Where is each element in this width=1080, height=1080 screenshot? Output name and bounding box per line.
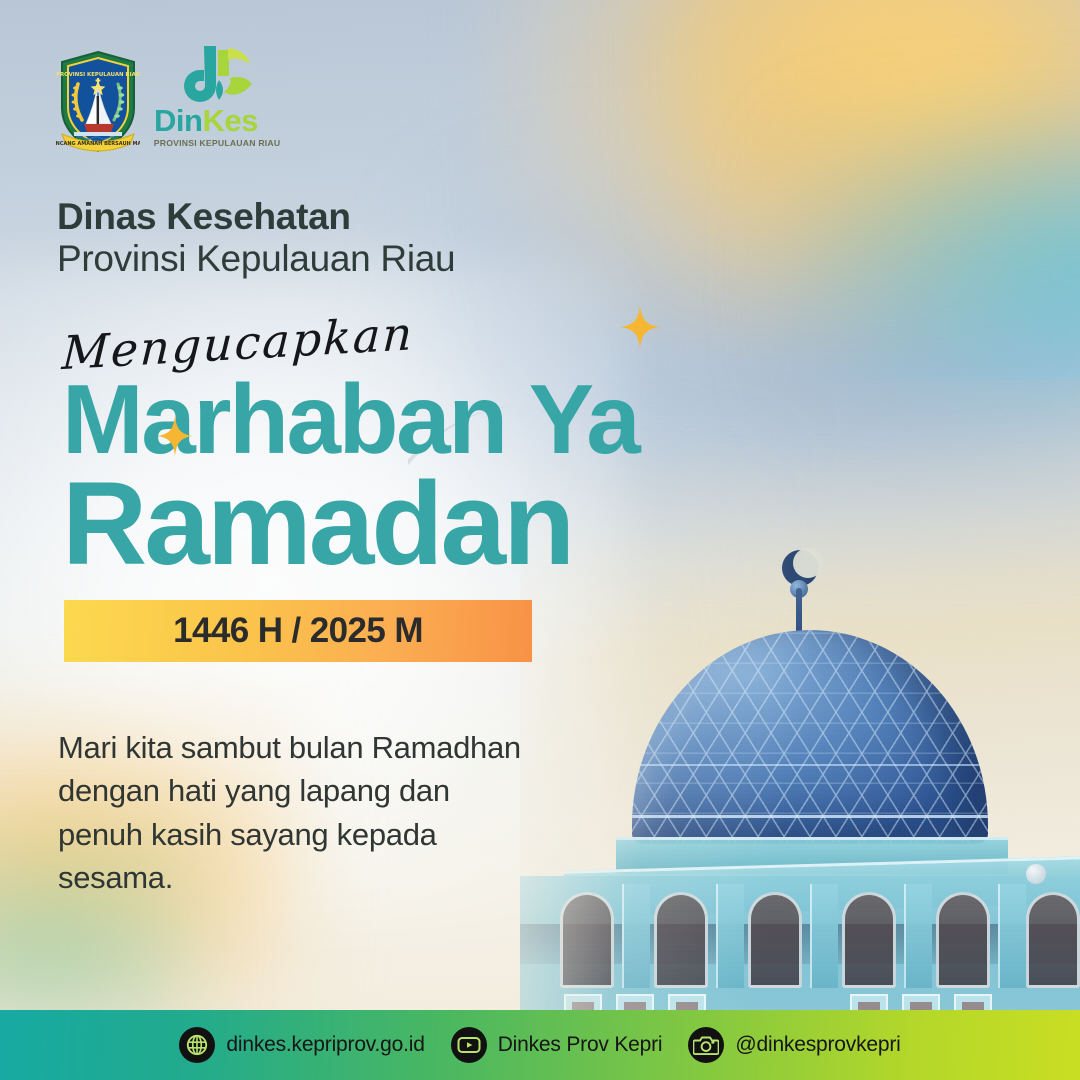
sparkle-icon [158, 416, 192, 456]
footer-bar: dinkes.kepriprov.go.id Dinkes Prov Kepri… [0, 1010, 1080, 1080]
kepri-province-emblem-icon: PROVINSI KEPULAUAN RIAU [56, 50, 140, 154]
dinkes-logo: DinKes PROVINSI KEPULAUAN RIAU [154, 44, 258, 154]
org-line-2: Provinsi Kepulauan Riau [57, 238, 455, 280]
dinkes-word-kes: Kes [202, 103, 257, 138]
youtube-icon [451, 1027, 487, 1063]
footer-instagram-label: @dinkesprovkepri [735, 1033, 900, 1057]
org-line-1: Dinas Kesehatan [57, 196, 455, 238]
date-badge-label: 1446 H / 2025 M [173, 611, 423, 651]
globe-icon [179, 1027, 215, 1063]
body-message: Mari kita sambut bulan Ramadhan dengan h… [58, 726, 528, 900]
footer-instagram[interactable]: @dinkesprovkepri [688, 1027, 900, 1063]
organization-title: Dinas Kesehatan Provinsi Kepulauan Riau [57, 196, 455, 280]
svg-text:PROVINSI KEPULAUAN RIAU: PROVINSI KEPULAUAN RIAU [56, 72, 140, 78]
dinkes-word-din: Din [154, 103, 202, 138]
footer-website[interactable]: dinkes.kepriprov.go.id [179, 1027, 424, 1063]
svg-text:BERPANCANG AMANAH BERSAUH MARW: BERPANCANG AMANAH BERSAUH MARWAH [56, 141, 140, 147]
footer-youtube[interactable]: Dinkes Prov Kepri [451, 1027, 663, 1063]
headline: Marhaban Ya Ramadan [62, 372, 638, 581]
date-badge: 1446 H / 2025 M [64, 600, 532, 662]
ramadan-greeting-poster: PROVINSI KEPULAUAN RIAU [0, 0, 1080, 1080]
logo-group: PROVINSI KEPULAUAN RIAU [56, 44, 258, 154]
dinkes-subtitle: PROVINSI KEPULAUAN RIAU [154, 138, 281, 148]
dinkes-wordmark: DinKes [154, 105, 258, 136]
sparkle-icon [620, 306, 660, 348]
instagram-icon [688, 1027, 724, 1063]
headline-line-2: Ramadan [62, 468, 638, 581]
footer-website-label: dinkes.kepriprov.go.id [226, 1033, 424, 1057]
footer-youtube-label: Dinkes Prov Kepri [498, 1033, 663, 1057]
